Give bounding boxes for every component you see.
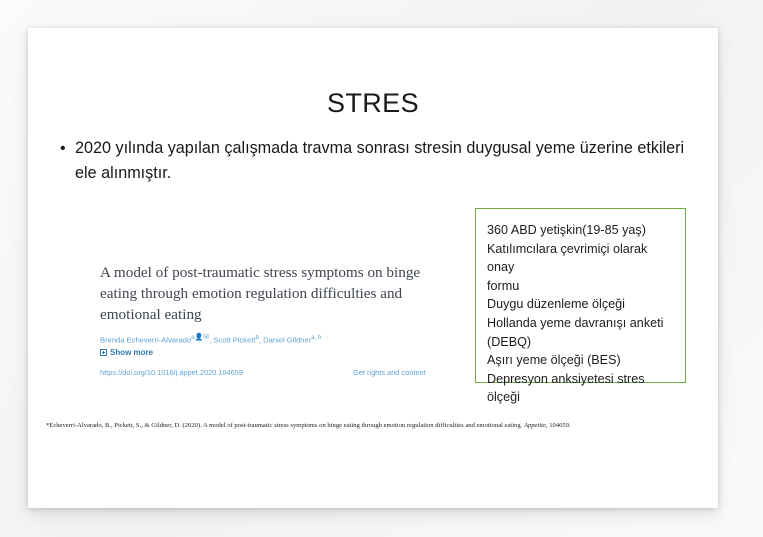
bullet-marker-icon: • [60,136,75,161]
person-icon[interactable]: 👤 [195,332,204,343]
info-line: Depresyon anksiyetesi stres ölçeği [487,370,674,407]
list-item: • 2020 yılında yapılan çalışmada travma … [60,136,690,186]
plus-box-icon [100,349,107,356]
show-more-label: Show more [110,348,153,357]
info-line: Duygu düzenleme ölçeği [487,295,674,314]
bullet-text: 2020 yılında yapılan çalışmada travma so… [75,136,690,186]
study-details-box: 360 ABD yetişkin(19-85 yaş) Katılımcılar… [475,208,686,383]
footnote-text-after: , 104659. [546,422,571,429]
article-authors: Brenda Echeverri-Alvaradoa👤✉, Scott Pick… [100,332,445,346]
info-line: Hollanda yeme davranışı anketi [487,314,674,333]
info-line: (DEBQ) [487,333,674,352]
screenshot-stage: STRES • 2020 yılında yapılan çalışmada t… [0,0,763,537]
author-name-first[interactable]: Brenda Echeverri-Alvarado [100,336,191,345]
article-title: A model of post-traumatic stress symptom… [100,262,430,325]
footnote-citation: *Echeverri-Alvarado, B., Pickett, S., & … [46,421,706,430]
doi-link[interactable]: https://doi.org/10.1016/j.appet.2020.104… [100,368,243,378]
affiliation-marker-ab: a, b [311,335,321,341]
presentation-slide: STRES • 2020 yılında yapılan çalışmada t… [28,28,718,508]
info-line: Aşırı yeme ölçeği (BES) [487,351,674,370]
info-line: Katılımcılara çevrimiçi olarak onay [487,240,674,277]
page-title: STRES [28,90,718,117]
info-line: formu [487,277,674,296]
journal-name: Appetite [524,422,546,429]
show-more-button[interactable]: Show more [100,348,153,357]
article-screenshot: A model of post-traumatic stress symptom… [75,232,445,397]
author-name-second[interactable]: , Scott Pickett [209,336,255,345]
info-line: 360 ABD yetişkin(19-85 yaş) [487,221,674,240]
bullet-list: • 2020 yılında yapılan çalışmada travma … [60,136,690,186]
footnote-text-before: *Echeverri-Alvarado, B., Pickett, S., & … [46,422,524,429]
author-name-third[interactable]: , Daniel Gildner [259,336,311,345]
get-rights-and-content-link[interactable]: Get rights and content [353,368,426,378]
